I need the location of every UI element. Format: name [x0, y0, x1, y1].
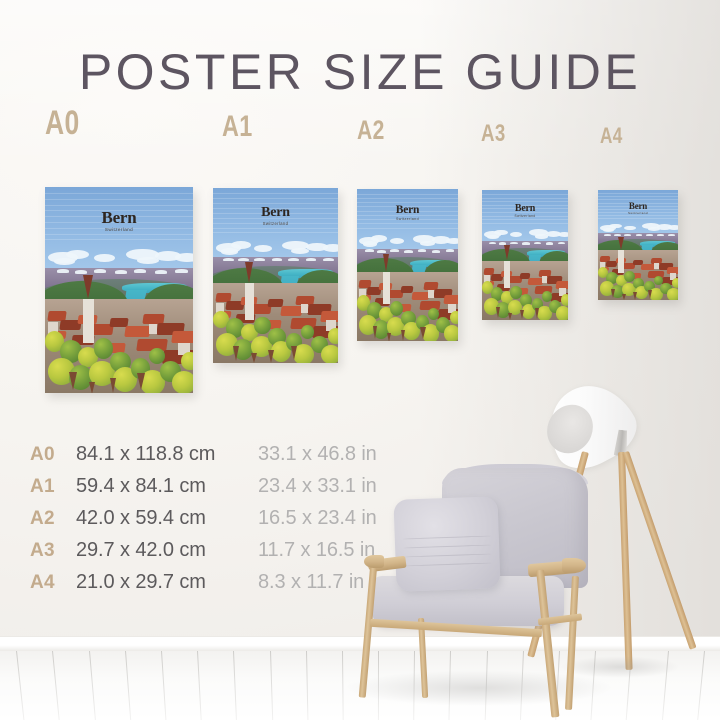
artwork-conical-roof	[69, 372, 77, 390]
size-row: A084.1 x 118.8 cm33.1 x 46.8 in	[30, 443, 377, 475]
poster-artwork-title: Bern	[598, 202, 678, 211]
artwork-church-spire	[83, 275, 93, 299]
floor-plank	[125, 651, 132, 720]
artwork-building	[428, 290, 434, 298]
poster-artwork-subtitle: Switzerland	[45, 228, 193, 233]
floor-plank	[89, 651, 97, 720]
artwork-tree	[149, 348, 165, 364]
artwork-snowcap	[390, 249, 399, 252]
artwork-snowcap	[657, 234, 664, 236]
artwork-cloud	[535, 234, 548, 239]
size-row-cm: 42.0 x 59.4 cm	[76, 507, 258, 530]
artwork-rooftop	[401, 286, 414, 293]
poster-artwork-title: Bern	[45, 209, 193, 226]
floor-plank	[52, 651, 61, 720]
artwork-cloud	[668, 225, 678, 230]
artwork-tree	[654, 276, 663, 285]
floor-plank	[233, 651, 237, 720]
artwork-cloud	[94, 254, 115, 262]
artwork-cloud	[363, 241, 377, 246]
poster-a4[interactable]: BernSwitzerland	[598, 190, 678, 300]
artwork-conical-roof	[622, 294, 626, 300]
artwork-snowcap	[636, 234, 643, 236]
artwork-tree	[450, 311, 458, 325]
size-row: A329.7 x 42.0 cm11.7 x 16.5 in	[30, 539, 377, 571]
artwork-snowcap	[134, 269, 147, 273]
size-row-label: A1	[30, 476, 76, 498]
artwork-snowcap	[646, 234, 653, 236]
size-row-label: A2	[30, 508, 76, 530]
artwork-tree	[561, 294, 568, 306]
poster-artwork-subtitle: Switzerland	[482, 215, 568, 218]
poster-artwork-subtitle: Switzerland	[213, 222, 338, 226]
poster-artwork-subtitle: Switzerland	[598, 212, 678, 215]
artwork-snowcap	[175, 269, 188, 273]
poster-label-a1: A1	[222, 112, 253, 142]
artwork-conical-roof	[611, 289, 615, 298]
artwork-snowcap	[377, 250, 386, 253]
poster-artwork-subtitle: Switzerland	[357, 218, 458, 222]
artwork-snowcap	[624, 234, 631, 236]
artwork-tree	[542, 291, 551, 301]
size-row-cm: 59.4 x 84.1 cm	[76, 475, 258, 498]
artwork-snowcap	[288, 258, 299, 261]
artwork-church-spire	[504, 245, 510, 260]
artwork-snowcap	[365, 249, 374, 252]
poster-a2[interactable]: BernSwitzerland	[357, 189, 458, 341]
size-row: A421.0 x 29.7 cm8.3 x 11.7 in	[30, 571, 377, 603]
artwork-church-spire	[383, 254, 389, 272]
artwork-conical-roof	[633, 292, 637, 300]
artwork-snowcap	[489, 242, 496, 244]
poster-a1[interactable]: BernSwitzerland	[213, 188, 338, 363]
poster-a3[interactable]: BernSwitzerland	[482, 190, 568, 320]
floor-plank	[197, 651, 202, 720]
size-row-cm: 21.0 x 29.7 cm	[76, 571, 258, 594]
floor-plank	[270, 651, 273, 720]
artwork-cloud	[221, 248, 239, 254]
artwork-snowcap	[94, 269, 107, 273]
artwork-rooftop	[280, 306, 303, 316]
poster-label-a4: A4	[600, 125, 623, 147]
artwork-cloud	[624, 226, 635, 230]
artwork-conical-roof	[291, 346, 297, 360]
artwork-snowcap	[510, 242, 517, 244]
artwork-tree	[94, 338, 113, 359]
artwork-building	[149, 324, 158, 334]
artwork-snowcap	[155, 270, 168, 274]
chair-arm-right-cap	[562, 558, 586, 573]
artwork-conical-roof	[520, 310, 524, 319]
artwork-cloud	[420, 241, 435, 246]
artwork-snowcap	[57, 269, 70, 273]
artwork-snowcap	[558, 242, 565, 244]
artwork-conical-roof	[496, 307, 500, 318]
poster-label-a3: A3	[481, 122, 506, 146]
poster-a0[interactable]: BernSwitzerland	[45, 187, 193, 393]
artwork-tree	[181, 352, 193, 371]
page-title: POSTER SIZE GUIDE	[0, 44, 720, 100]
floor-plank	[342, 651, 344, 720]
size-row: A242.0 x 59.4 cm16.5 x 23.4 in	[30, 507, 377, 539]
artwork-snowcap	[432, 250, 441, 253]
artwork-snowcap	[75, 270, 88, 274]
poster-artwork-title: Bern	[482, 204, 568, 214]
artwork-tree	[667, 288, 678, 300]
artwork-church-tower	[504, 261, 510, 288]
artwork-tree	[254, 317, 270, 335]
artwork-conical-roof	[89, 382, 95, 393]
size-row-in: 8.3 x 11.7 in	[258, 571, 364, 594]
artwork-snowcap	[254, 258, 265, 261]
artwork-snowcap	[223, 258, 234, 261]
artwork-church-tower	[83, 299, 94, 342]
furniture-group	[350, 380, 720, 720]
artwork-rooftop	[411, 292, 429, 300]
artwork-tree	[428, 308, 439, 320]
artwork-conical-roof	[648, 290, 652, 299]
artwork-conical-roof	[251, 353, 257, 363]
artwork-snowcap	[668, 234, 675, 236]
artwork-conical-roof	[373, 326, 377, 339]
artwork-cloud	[254, 245, 272, 252]
artwork-church-spire	[618, 237, 624, 250]
artwork-church-tower	[245, 283, 254, 320]
chair-arm-left-cap	[364, 555, 384, 568]
artwork-building	[654, 263, 659, 269]
floor-plank	[161, 651, 167, 720]
artwork-tree	[328, 328, 338, 344]
artwork-rooftop	[124, 326, 151, 337]
size-row-label: A3	[30, 540, 76, 562]
artwork-conical-roof	[233, 346, 239, 361]
poster-artwork-title: Bern	[213, 206, 338, 220]
floor-plank	[306, 651, 309, 720]
artwork-cloud	[323, 244, 338, 251]
artwork-church-tower	[383, 272, 391, 304]
artwork-snowcap	[534, 242, 541, 244]
armchair	[350, 458, 640, 718]
room-scene: POSTER SIZE GUIDE A0BernSwitzerlandA1Ber…	[0, 0, 720, 720]
poster-label-a0: A0	[45, 106, 80, 140]
artwork-snowcap	[522, 242, 529, 244]
size-row-label: A0	[30, 444, 76, 466]
artwork-conical-roof	[137, 373, 145, 390]
size-row: A159.4 x 84.1 cm23.4 x 33.1 in	[30, 475, 377, 507]
artwork-cloud	[291, 248, 310, 254]
artwork-snowcap	[418, 249, 427, 252]
artwork-church-spire	[245, 262, 253, 283]
artwork-conical-roof	[387, 333, 391, 341]
artwork-building	[301, 304, 309, 313]
artwork-snowcap	[404, 250, 413, 253]
artwork-snowcap	[604, 234, 611, 236]
artwork-snowcap	[446, 249, 455, 252]
artwork-snowcap	[115, 270, 128, 274]
size-table: A084.1 x 118.8 cm33.1 x 46.8 inA159.4 x …	[30, 443, 377, 603]
size-row-cm: 29.7 x 42.0 cm	[76, 539, 258, 562]
artwork-tree	[444, 325, 458, 341]
artwork-cloud	[175, 253, 193, 262]
artwork-tree	[172, 371, 193, 393]
artwork-snowcap	[546, 242, 553, 244]
artwork-cloud	[603, 228, 614, 232]
artwork-conical-roof	[508, 313, 512, 320]
artwork-building	[542, 276, 547, 283]
artwork-conical-roof	[268, 350, 274, 363]
poster-artwork-title: Bern	[357, 205, 458, 217]
artwork-conical-roof	[401, 330, 405, 341]
poster-label-a2: A2	[357, 117, 385, 144]
artwork-tree	[672, 278, 678, 288]
artwork-conical-roof	[110, 378, 116, 393]
artwork-church-tower	[618, 250, 624, 273]
artwork-tree	[556, 306, 568, 320]
floor-plank	[16, 651, 25, 720]
artwork-conical-roof	[420, 327, 426, 339]
artwork-conical-roof	[535, 308, 539, 319]
throw-pillow	[393, 496, 500, 592]
size-row-label: A4	[30, 572, 76, 594]
artwork-tree	[301, 325, 315, 339]
size-row-cm: 84.1 x 118.8 cm	[76, 443, 258, 466]
artwork-tree	[321, 345, 339, 363]
artwork-snowcap	[323, 258, 334, 261]
